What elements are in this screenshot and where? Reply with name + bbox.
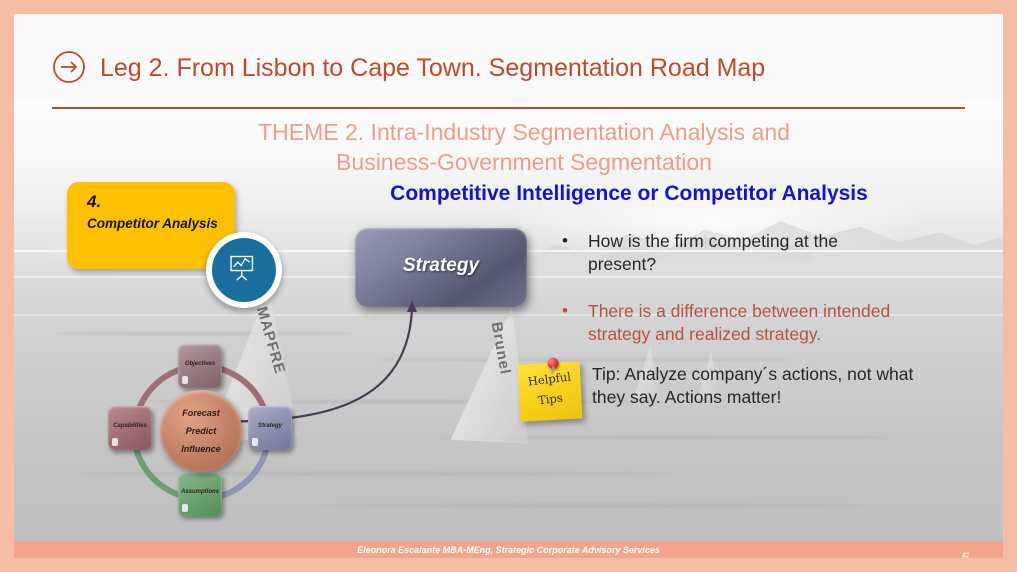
helpful-tips-note: Helpful Tips	[518, 361, 583, 421]
cycle-node-objectives[interactable]: Objectives	[178, 344, 222, 388]
forecast-cycle-diagram: Objectives Strategy Assumptions Capabili…	[112, 344, 304, 526]
cycle-center: Forecast Predict Influence	[160, 390, 242, 472]
cycle-node-capabilities[interactable]: Capabilities	[108, 406, 152, 450]
bullet-marker: •	[562, 230, 568, 252]
page-title: Leg 2. From Lisbon to Cape Town. Segment…	[100, 54, 765, 83]
cycle-node-strategy[interactable]: Strategy	[248, 406, 292, 450]
cycle-node-label: Objectives	[178, 361, 222, 367]
bullet-text: There is a difference between intended s…	[588, 300, 922, 346]
tag-label: Competitor Analysis	[87, 215, 222, 233]
footer-line-2: © 2017 Eleonora Escalante-all rights res…	[14, 557, 1003, 558]
strategy-box-label: Strategy	[355, 255, 527, 277]
tip-text: Tip: Analyze company´s actions, not what…	[592, 363, 942, 410]
slide-subtitle: Competitive Intelligence or Competitor A…	[314, 182, 944, 206]
note-line-1: Helpful	[518, 368, 581, 389]
circle-right-arrow-icon	[52, 50, 86, 84]
cycle-center-line-3: Influence	[160, 444, 242, 454]
footer-line-1: Eleonora Escalante MBA-MEng, Strategic C…	[14, 545, 1003, 555]
cycle-center-line-2: Predict	[160, 426, 242, 436]
tag-number: 4.	[87, 192, 101, 212]
cycle-center-line-1: Forecast	[160, 408, 242, 418]
bullet-item: • There is a difference between intended…	[562, 300, 922, 346]
presentation-chart-icon	[226, 252, 262, 288]
badge-circle	[212, 238, 276, 302]
theme-line-2: Business-Government Segmentation	[204, 148, 844, 178]
slide-header: Leg 2. From Lisbon to Cape Town. Segment…	[14, 14, 1003, 100]
cycle-node-label: Strategy	[248, 423, 292, 429]
presentation-slide: MAPFRE Brunel Leg 2. From Lisbon to Cape…	[0, 0, 1017, 572]
slide-footer: Eleonora Escalante MBA-MEng, Strategic C…	[14, 541, 1003, 558]
theme-heading: THEME 2. Intra-Industry Segmentation Ana…	[204, 118, 844, 178]
note-line-2: Tips	[519, 388, 582, 409]
bullet-text: How is the firm competing at the present…	[588, 230, 882, 276]
slide-canvas: MAPFRE Brunel Leg 2. From Lisbon to Cape…	[14, 14, 1003, 558]
cycle-node-assumptions[interactable]: Assumptions	[178, 472, 222, 516]
title-divider	[52, 107, 965, 109]
page-number: 5	[961, 549, 969, 558]
cycle-node-label: Capabilities	[108, 423, 152, 429]
cycle-node-label: Assumptions	[178, 489, 222, 495]
theme-line-1: THEME 2. Intra-Industry Segmentation Ana…	[204, 118, 844, 148]
pushpin-icon	[547, 358, 559, 370]
bullet-marker: •	[562, 300, 568, 322]
bullet-item: • How is the firm competing at the prese…	[562, 230, 882, 276]
